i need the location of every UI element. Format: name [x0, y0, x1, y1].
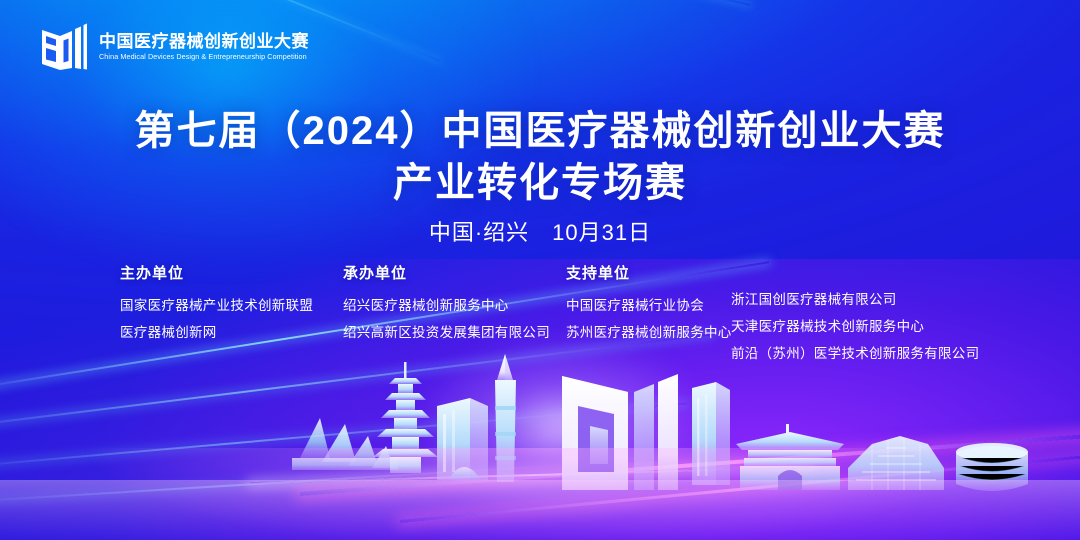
organizer-heading: 支持单位: [566, 262, 732, 283]
organizer-column-support: 支持单位 中国医疗器械行业协会 苏州医疗器械创新服务中心: [566, 262, 732, 346]
open-door-logo-icon: [40, 22, 88, 72]
organizer-heading: 主办单位: [120, 262, 313, 283]
organizer-item: 绍兴高新区投资发展集团有限公司: [343, 319, 550, 346]
organizer-heading: 承办单位: [343, 262, 550, 283]
organizer-column-host: 主办单位 国家医疗器械产业技术创新联盟 医疗器械创新网: [120, 262, 313, 346]
organizer-item: 天津医疗器械技术创新服务中心: [731, 313, 979, 340]
organizer-section: 主办单位 国家医疗器械产业技术创新联盟 医疗器械创新网 承办单位 绍兴医疗器械创…: [0, 262, 1080, 372]
title-line-1: 第七届（2024）中国医疗器械创新创业大赛: [0, 108, 1080, 155]
brand-name-en: China Medical Devices Design & Entrepren…: [99, 53, 307, 61]
location-date: 中国·绍兴 10月31日: [0, 215, 1080, 247]
organizer-item: 中国医疗器械行业协会: [566, 292, 732, 319]
organizer-item: 医疗器械创新网: [120, 319, 313, 346]
organizer-item: 浙江国创医疗器械有限公司: [731, 286, 979, 313]
brand-name-cn: 中国医疗器械创新创业大赛: [99, 33, 315, 51]
page-title: 第七届（2024）中国医疗器械创新创业大赛 产业转化专场赛: [0, 108, 1080, 208]
organizer-item: 苏州医疗器械创新服务中心: [566, 319, 732, 346]
ground-glow: [0, 448, 1080, 540]
organizer-item: 国家医疗器械产业技术创新联盟: [120, 292, 313, 319]
organizer-column-support-extra: 浙江国创医疗器械有限公司 天津医疗器械技术创新服务中心 前沿（苏州）医学技术创新…: [731, 286, 979, 367]
banner-poster: 中国医疗器械创新创业大赛 China Medical Devices Desig…: [0, 0, 1080, 540]
organizer-item: 绍兴医疗器械创新服务中心: [343, 292, 550, 319]
organizer-item: 前沿（苏州）医学技术创新服务有限公司: [731, 340, 979, 367]
organizer-column-organizer: 承办单位 绍兴医疗器械创新服务中心 绍兴高新区投资发展集团有限公司: [343, 262, 550, 346]
brand-logo: 中国医疗器械创新创业大赛 China Medical Devices Desig…: [40, 22, 315, 72]
title-line-2: 产业转化专场赛: [0, 159, 1080, 208]
